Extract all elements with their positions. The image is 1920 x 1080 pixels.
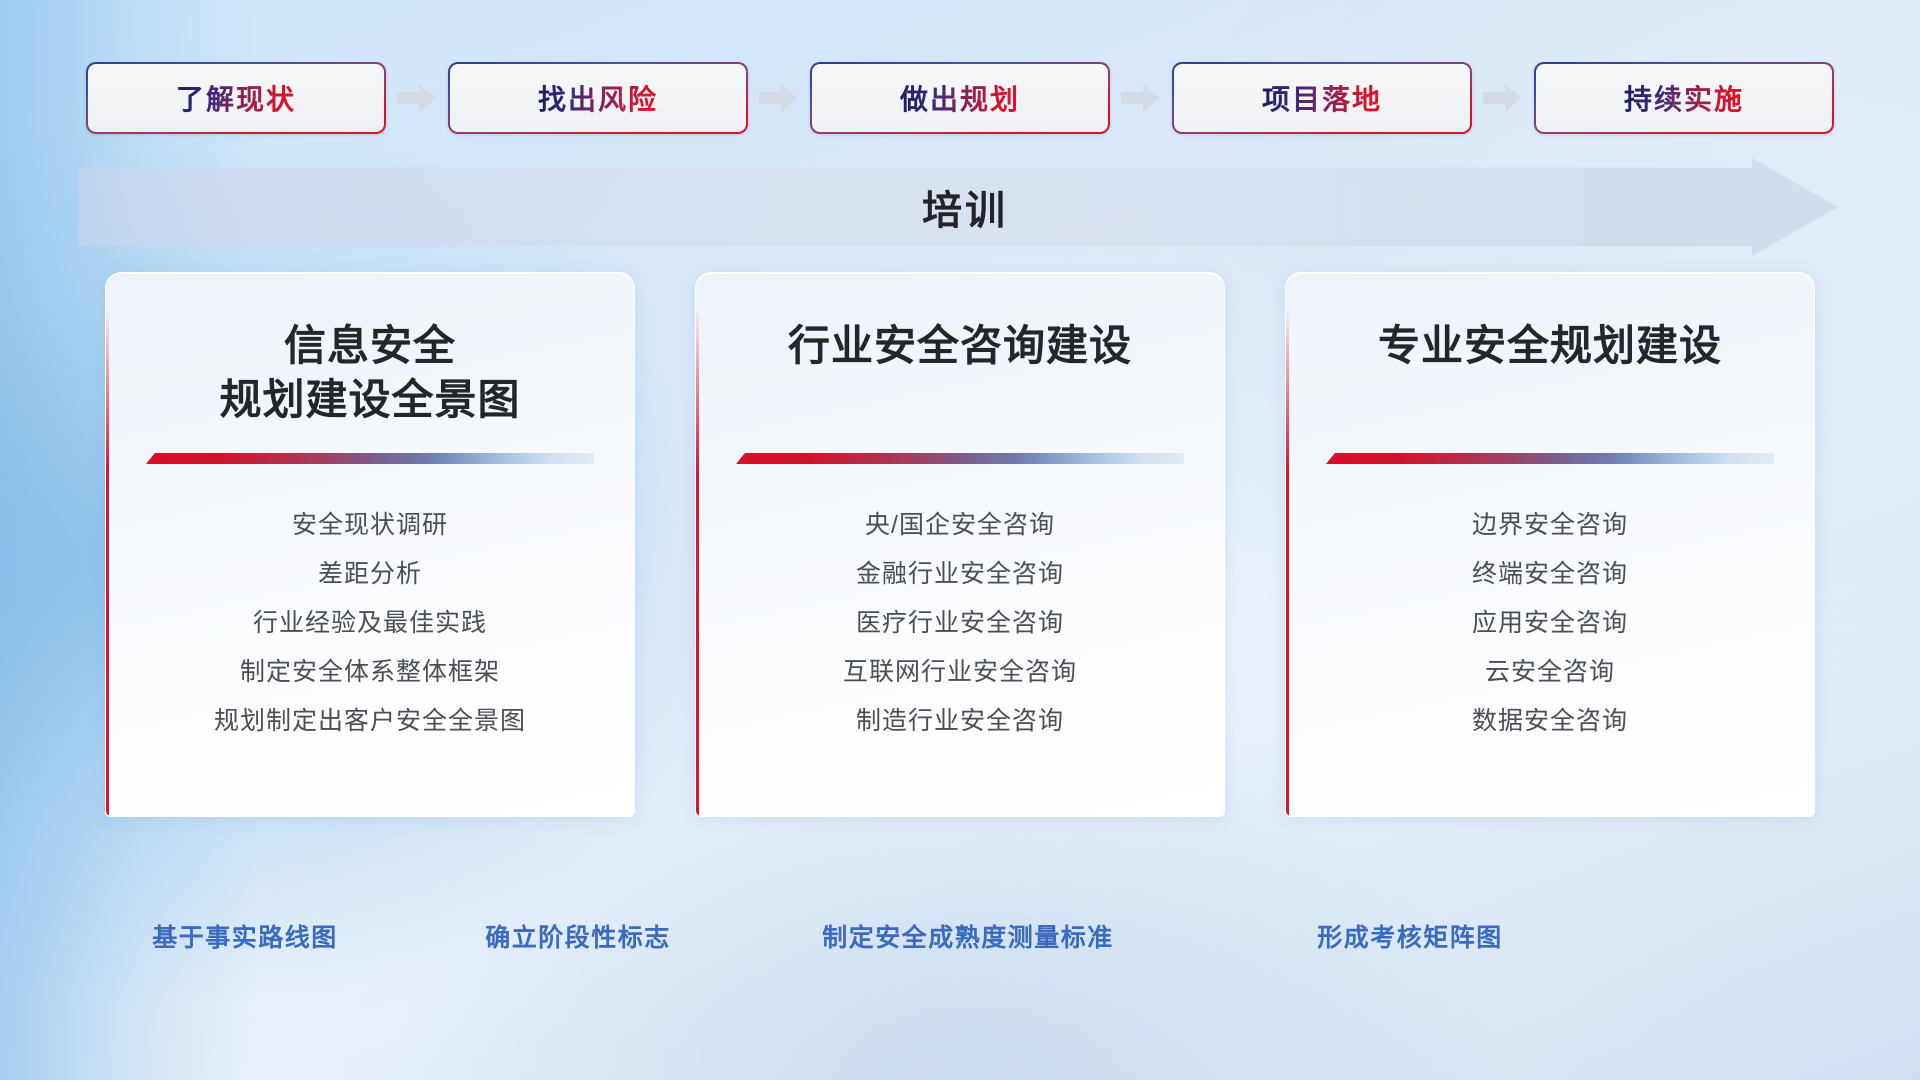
training-banner: 培训 xyxy=(78,158,1838,256)
card-title: 专业安全规划建设 xyxy=(1320,319,1780,431)
process-step-5-inner: 持续实施 xyxy=(1536,64,1832,132)
process-step-1[interactable]: 了解现状 xyxy=(86,62,386,134)
process-step-row: 了解现状 找出风险 做出规划 项目落地 持续实施 xyxy=(0,62,1920,134)
card-title: 信息安全 规划建设全景图 xyxy=(140,319,600,431)
process-step-2[interactable]: 找出风险 xyxy=(448,62,748,134)
step-arrow-icon-3 xyxy=(1110,62,1172,134)
list-item: 制定安全体系整体框架 xyxy=(240,657,500,687)
list-item: 行业经验及最佳实践 xyxy=(253,608,487,638)
footer-label-roadmap: 基于事实路线图 xyxy=(152,918,338,954)
process-step-2-label: 找出风险 xyxy=(538,78,658,118)
banner-title: 培训 xyxy=(78,158,1838,256)
list-item: 数据安全咨询 xyxy=(1472,706,1628,736)
card-row: 信息安全 规划建设全景图 安全现状调研 差距分析 行业经验及最佳实践 制定安全体… xyxy=(0,272,1920,817)
footer-label-row: 基于事实路线图 确立阶段性标志 制定安全成熟度测量标准 形成考核矩阵图 xyxy=(0,918,1920,968)
step-arrow-icon-4 xyxy=(1472,62,1534,134)
list-item: 央/国企安全咨询 xyxy=(865,510,1055,540)
card-title: 行业安全咨询建设 xyxy=(730,319,1190,431)
process-step-4[interactable]: 项目落地 xyxy=(1172,62,1472,134)
list-item: 终端安全咨询 xyxy=(1472,559,1628,589)
process-step-2-inner: 找出风险 xyxy=(450,64,746,132)
step-arrow-icon-2 xyxy=(748,62,810,134)
card-item-list: 安全现状调研 差距分析 行业经验及最佳实践 制定安全体系整体框架 规划制定出客户… xyxy=(140,510,600,736)
card-item-list: 央/国企安全咨询 金融行业安全咨询 医疗行业安全咨询 互联网行业安全咨询 制造行… xyxy=(730,510,1190,736)
footer-label-milestone: 确立阶段性标志 xyxy=(485,918,671,954)
list-item: 云安全咨询 xyxy=(1485,657,1615,687)
card-divider xyxy=(146,453,594,464)
list-item: 医疗行业安全咨询 xyxy=(856,608,1064,638)
process-step-5-label: 持续实施 xyxy=(1624,78,1744,118)
card-item-list: 边界安全咨询 终端安全咨询 应用安全咨询 云安全咨询 数据安全咨询 xyxy=(1320,510,1780,736)
process-step-3[interactable]: 做出规划 xyxy=(810,62,1110,134)
step-arrow-icon-1 xyxy=(386,62,448,134)
list-item: 差距分析 xyxy=(318,559,422,589)
list-item: 制造行业安全咨询 xyxy=(856,706,1064,736)
process-step-4-inner: 项目落地 xyxy=(1174,64,1470,132)
process-step-5[interactable]: 持续实施 xyxy=(1534,62,1834,134)
card-divider xyxy=(736,453,1184,464)
process-step-3-inner: 做出规划 xyxy=(812,64,1108,132)
card-divider xyxy=(1326,453,1774,464)
list-item: 边界安全咨询 xyxy=(1472,510,1628,540)
list-item: 安全现状调研 xyxy=(292,510,448,540)
list-item: 规划制定出客户安全全景图 xyxy=(214,706,526,736)
process-step-3-label: 做出规划 xyxy=(900,78,1020,118)
list-item: 金融行业安全咨询 xyxy=(856,559,1064,589)
footer-label-maturity: 制定安全成熟度测量标准 xyxy=(822,918,1114,954)
process-step-1-label: 了解现状 xyxy=(176,78,296,118)
list-item: 应用安全咨询 xyxy=(1472,608,1628,638)
card-professional-planning[interactable]: 专业安全规划建设 边界安全咨询 终端安全咨询 应用安全咨询 云安全咨询 数据安全… xyxy=(1285,272,1815,817)
card-industry-consulting[interactable]: 行业安全咨询建设 央/国企安全咨询 金融行业安全咨询 医疗行业安全咨询 互联网行… xyxy=(695,272,1225,817)
process-step-1-inner: 了解现状 xyxy=(88,64,384,132)
process-step-4-label: 项目落地 xyxy=(1262,78,1382,118)
footer-label-matrix: 形成考核矩阵图 xyxy=(1317,918,1503,954)
list-item: 互联网行业安全咨询 xyxy=(843,657,1077,687)
card-information-security[interactable]: 信息安全 规划建设全景图 安全现状调研 差距分析 行业经验及最佳实践 制定安全体… xyxy=(105,272,635,817)
